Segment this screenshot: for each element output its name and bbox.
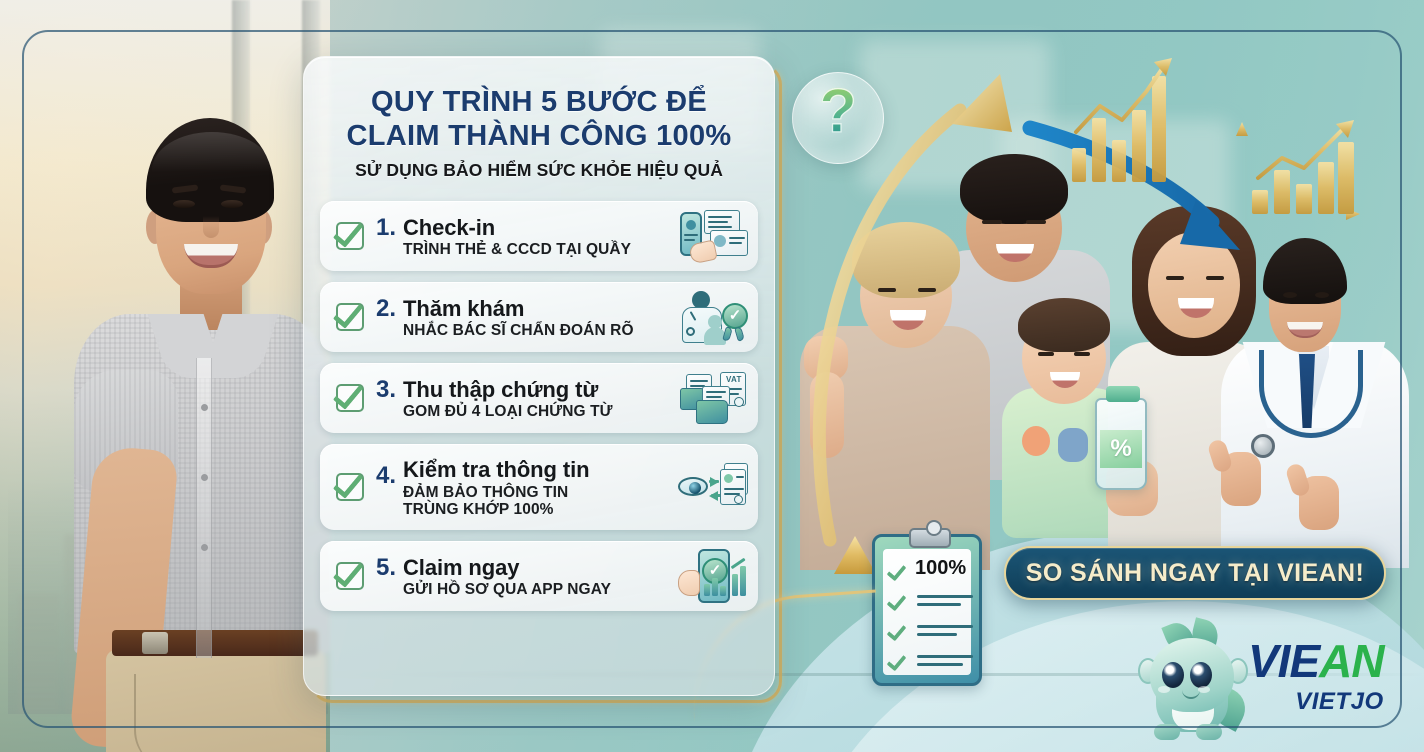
step-desc-4: ĐẢM BẢO THÔNG TIN TRÙNG KHỚP 100% [403,484,678,519]
left-person-photo [60,118,330,752]
step-desc-3: GOM ĐỦ 4 LOẠI CHỨNG TỪ [403,403,678,421]
step-number-1: 1. [376,201,396,242]
step-title-3: Thu thập chứng từ [403,378,678,401]
clipboard-checklist-icon: 100% [872,534,982,686]
checked-checkbox-icon[interactable] [332,556,374,596]
step-number-5: 5. [376,541,396,582]
heading-line-2: CLAIM THÀNH CÔNG 100% [324,119,754,153]
step-card-1[interactable]: 1. Check-in TRÌNH THẺ & CCCD TẠI QUẦY [320,201,758,271]
cta-label: SO SÁNH NGAY TẠI VIEAN! [1026,559,1364,588]
step-desc-2: NHẮC BÁC SĨ CHẨN ĐOÁN RÕ [403,322,678,340]
clipboard-clip [909,528,951,548]
medicine-bottle-icon: % [1095,398,1147,490]
step-title-5: Claim ngay [403,556,678,579]
doctor-photo [1215,238,1415,568]
bottle-cap [1106,386,1140,402]
clipboard-sheet: 100% [883,549,971,675]
step-title-4: Kiểm tra thông tin [403,458,678,481]
bottle-percent-label: % [1100,430,1142,468]
checked-checkbox-icon[interactable] [332,297,374,337]
id-card-phone-icon [678,208,750,264]
thumbs-up-left-icon [1221,452,1261,506]
step-card-2[interactable]: 2. Thăm khám NHẮC BÁC SĨ CHẨN ĐOÁN RÕ [320,282,758,352]
heading-subtitle: SỬ DỤNG BẢO HIỂM SỨC KHỎE HIỆU QUẢ [324,160,754,181]
step-title-2: Thăm khám [403,297,678,320]
step-title-1: Check-in [403,216,678,239]
documents-vat-folder-icon: VAT [678,370,750,426]
checked-checkbox-icon[interactable] [332,216,374,256]
step-desc-5: GỬI HỒ SƠ QUA APP NGAY [403,581,678,599]
steps-panel: QUY TRÌNH 5 BƯỚC ĐỂ CLAIM THÀNH CÔNG 100… [303,56,775,696]
question-mark-bubble-icon: ? [792,72,884,164]
steps-list: 1. Check-in TRÌNH THẺ & CCCD TẠI QUẦY [304,187,774,611]
question-mark-glyph: ? [793,81,883,143]
logo-wordmark: VIEAN VIETJO [1248,638,1384,716]
infographic-canvas: % [0,0,1424,752]
logo-brand-part2: AN [1319,635,1383,687]
checked-checkbox-icon[interactable] [332,467,374,507]
clipboard-percent: 100% [915,557,966,580]
step-number-2: 2. [376,282,396,323]
logo-tagline: VIETJO [1248,688,1384,716]
logo-brand-part1: VIE [1248,635,1319,687]
family-photo [790,140,1260,570]
vat-label: VAT [726,375,742,384]
heading-line-1: QUY TRÌNH 5 BƯỚC ĐỂ [324,85,754,119]
phone-thumbsup-chart-icon [678,548,750,604]
step-number-3: 3. [376,363,396,404]
doctor-badge-icon [678,289,750,345]
vie-mascot-icon [1140,624,1244,740]
step-number-4: 4. [376,444,396,490]
eye-compare-documents-icon [678,459,750,515]
step-card-4[interactable]: 4. Kiểm tra thông tin ĐẢM BẢO THÔNG TIN … [320,444,758,530]
step-desc-1: TRÌNH THẺ & CCCD TẠI QUẦY [403,241,678,259]
thumbs-up-right-icon [1299,476,1339,530]
step-card-5[interactable]: 5. Claim ngay GỬI HỒ SƠ QUA APP NGAY [320,541,758,611]
compare-now-cta-button[interactable]: SO SÁNH NGAY TẠI VIEAN! [1004,546,1386,600]
brand-logo[interactable]: VIEAN VIETJO [1136,614,1416,746]
step-card-3[interactable]: 3. Thu thập chứng từ GOM ĐỦ 4 LOẠI CHỨNG… [320,363,758,433]
checked-checkbox-icon[interactable] [332,378,374,418]
panel-heading: QUY TRÌNH 5 BƯỚC ĐỂ CLAIM THÀNH CÔNG 100… [304,57,774,187]
